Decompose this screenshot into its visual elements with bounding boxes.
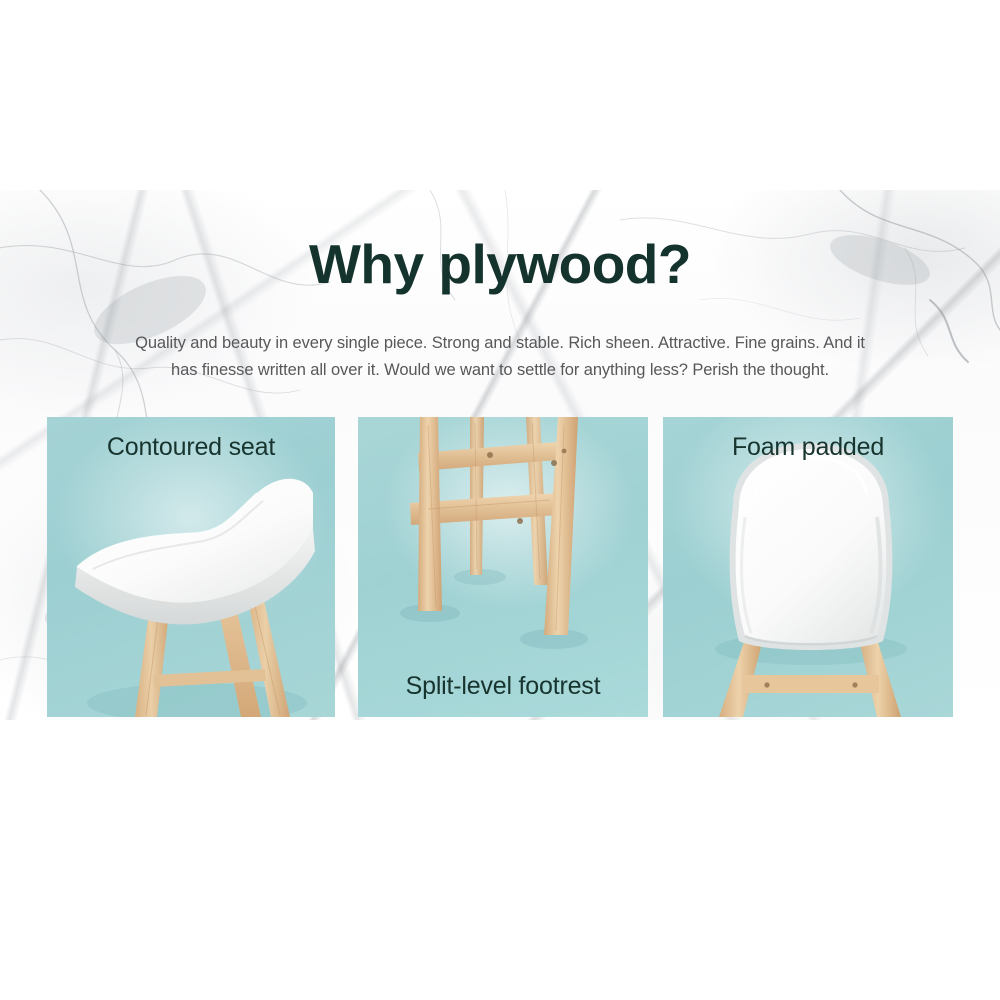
feature-panel-foam-padded[interactable]: Foam padded (663, 417, 953, 717)
subtitle-line-2: has finesse written all over it. Would w… (171, 361, 829, 379)
panel-label-foam-padded: Foam padded (663, 433, 953, 462)
product-feature-banner: Why plywood? Quality and beauty in every… (0, 0, 1000, 1000)
foam-padded-image (663, 417, 953, 717)
page-subtitle: Quality and beauty in every single piece… (120, 330, 880, 383)
feature-panel-split-level-footrest[interactable]: Split-level footrest (358, 417, 648, 717)
page-title: Why plywood? (0, 236, 1000, 294)
contoured-seat-image (47, 417, 335, 717)
panel-label-contoured-seat: Contoured seat (47, 433, 335, 462)
feature-panel-contoured-seat[interactable]: Contoured seat (47, 417, 335, 717)
subtitle-line-1: Quality and beauty in every single piece… (135, 334, 865, 352)
panel-label-split-level-footrest: Split-level footrest (358, 672, 648, 701)
feature-panel-group: Contoured seat (47, 417, 953, 717)
